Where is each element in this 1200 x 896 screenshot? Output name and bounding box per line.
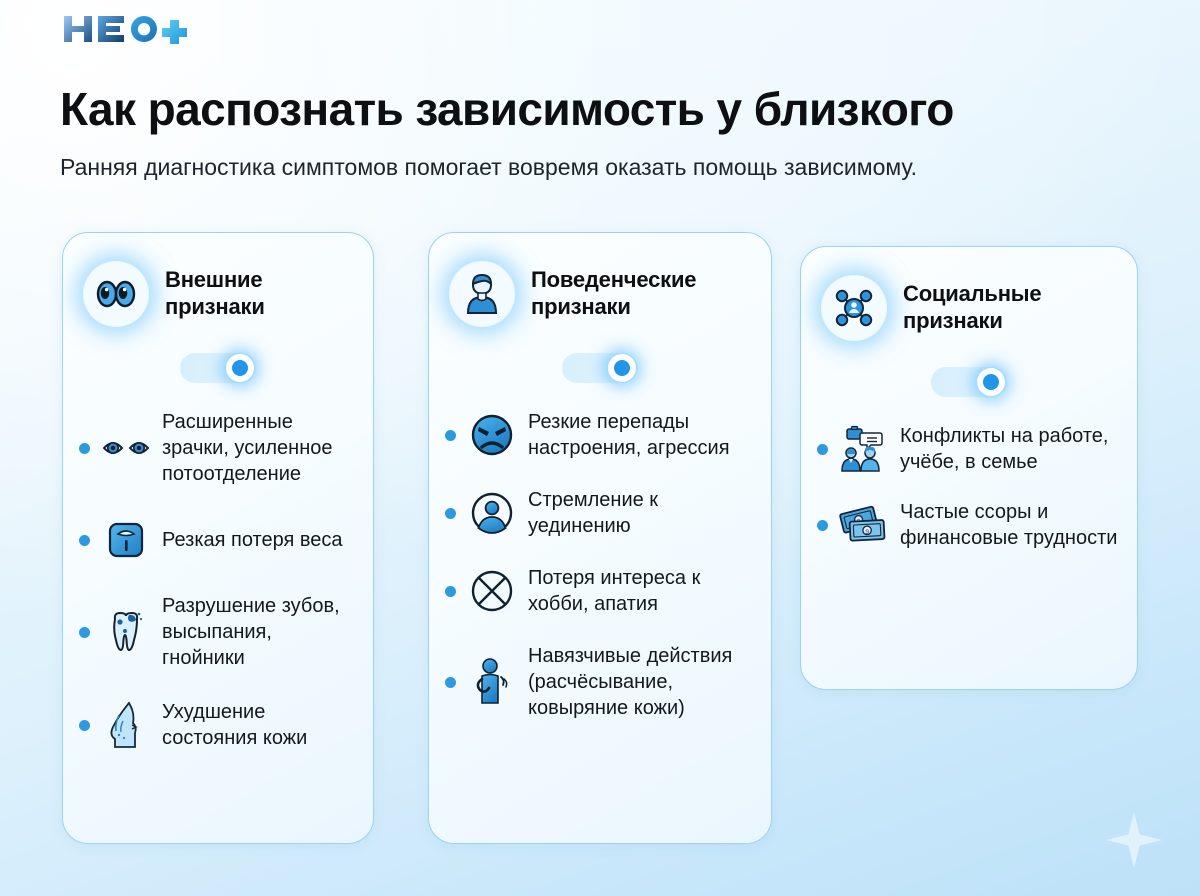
list-item-label: Ухудшение состояния кожи xyxy=(162,699,359,751)
tooth-decay-icon xyxy=(100,607,152,657)
bullet-dot xyxy=(445,677,456,688)
bullet-dot xyxy=(79,535,90,546)
bullet-dot xyxy=(445,586,456,597)
list-item: 9 9 Частые ссоры и финансовые трудности xyxy=(817,499,1123,551)
list-item-label: Резкие перепады настроения, агрессия xyxy=(528,409,757,461)
brand-logo xyxy=(62,14,190,44)
card-header: Поведенческиепризнаки xyxy=(429,233,771,327)
list-item: Ухудшение состояния кожи xyxy=(79,699,359,751)
list-item-label: Потеря интереса к хобби, апатия xyxy=(528,565,757,617)
list-item-label: Расширенные зрачки, усиленное потоотделе… xyxy=(162,409,359,487)
bullet-dot xyxy=(445,508,456,519)
bullet-dot xyxy=(79,627,90,638)
eyes-icon xyxy=(83,261,149,327)
face-skin-icon xyxy=(100,700,152,750)
card-header: Социальныепризнаки xyxy=(801,247,1137,341)
list-item: Расширенные зрачки, усиленное потоотделе… xyxy=(79,409,359,487)
list-item-label: Разрушение зубов, высыпания, гнойники xyxy=(162,593,359,671)
toggle-knob xyxy=(226,354,254,382)
bullet-dot xyxy=(79,720,90,731)
bullet-dot xyxy=(817,444,828,455)
card-title: Социальныепризнаки xyxy=(903,281,1041,335)
page-subtitle: Ранняя диагностика симптомов помогает во… xyxy=(60,150,960,185)
weight-scale-icon xyxy=(100,515,152,565)
scratching-person-icon xyxy=(466,657,518,707)
toggle-knob xyxy=(608,354,636,382)
list-item-label: Частые ссоры и финансовые трудности xyxy=(900,499,1123,551)
list-item: Разрушение зубов, высыпания, гнойники xyxy=(79,593,359,671)
angry-face-icon xyxy=(466,410,518,460)
list-item-label: Конфликты на работе, учёбе, в семье xyxy=(900,423,1123,475)
network-people-icon xyxy=(821,275,887,341)
signs-list: Конфликты на работе, учёбе, в семье 9 xyxy=(801,423,1137,551)
money-icon: 9 9 xyxy=(838,500,890,550)
card-toggle-switch[interactable] xyxy=(180,353,256,383)
person-icon xyxy=(449,261,515,327)
crossed-circle-icon xyxy=(466,566,518,616)
dilated-pupils-icon xyxy=(100,423,152,473)
list-item: Резкая потеря веса xyxy=(79,515,359,565)
bullet-dot xyxy=(79,443,90,454)
work-conflict-icon xyxy=(838,424,890,474)
card-behavioral-signs: Поведенческиепризнаки xyxy=(428,232,772,844)
toggle-wrap xyxy=(801,367,1137,397)
list-item: Конфликты на работе, учёбе, в семье xyxy=(817,423,1123,475)
sparkle-decoration xyxy=(1106,812,1162,868)
card-toggle-switch[interactable] xyxy=(562,353,638,383)
card-title: Внешниепризнаки xyxy=(165,267,265,321)
card-social-signs: Социальныепризнаки xyxy=(800,246,1138,690)
list-item: Навязчивые действия (расчёсывание, ковыр… xyxy=(445,643,757,721)
list-item-label: Стремление к уединению xyxy=(528,487,757,539)
signs-list: Расширенные зрачки, усиленное потоотделе… xyxy=(63,409,373,751)
toggle-knob xyxy=(977,368,1005,396)
card-title: Поведенческиепризнаки xyxy=(531,267,696,321)
signs-list: Резкие перепады настроения, агрессия Стр… xyxy=(429,409,771,721)
toggle-wrap xyxy=(429,353,771,383)
list-item: Резкие перепады настроения, агрессия xyxy=(445,409,757,461)
card-toggle-switch[interactable] xyxy=(931,367,1007,397)
toggle-wrap xyxy=(63,353,373,383)
bullet-dot xyxy=(445,430,456,441)
user-circle-icon xyxy=(466,488,518,538)
list-item: Потеря интереса к хобби, апатия xyxy=(445,565,757,617)
list-item: Стремление к уединению xyxy=(445,487,757,539)
card-header: Внешниепризнаки xyxy=(63,233,373,327)
list-item-label: Навязчивые действия (расчёсывание, ковыр… xyxy=(528,643,757,721)
list-item-label: Резкая потеря веса xyxy=(162,527,343,553)
bullet-dot xyxy=(817,520,828,531)
card-external-signs: Внешниепризнаки xyxy=(62,232,374,844)
page-title: Как распознать зависимость у близкого xyxy=(60,85,1160,134)
